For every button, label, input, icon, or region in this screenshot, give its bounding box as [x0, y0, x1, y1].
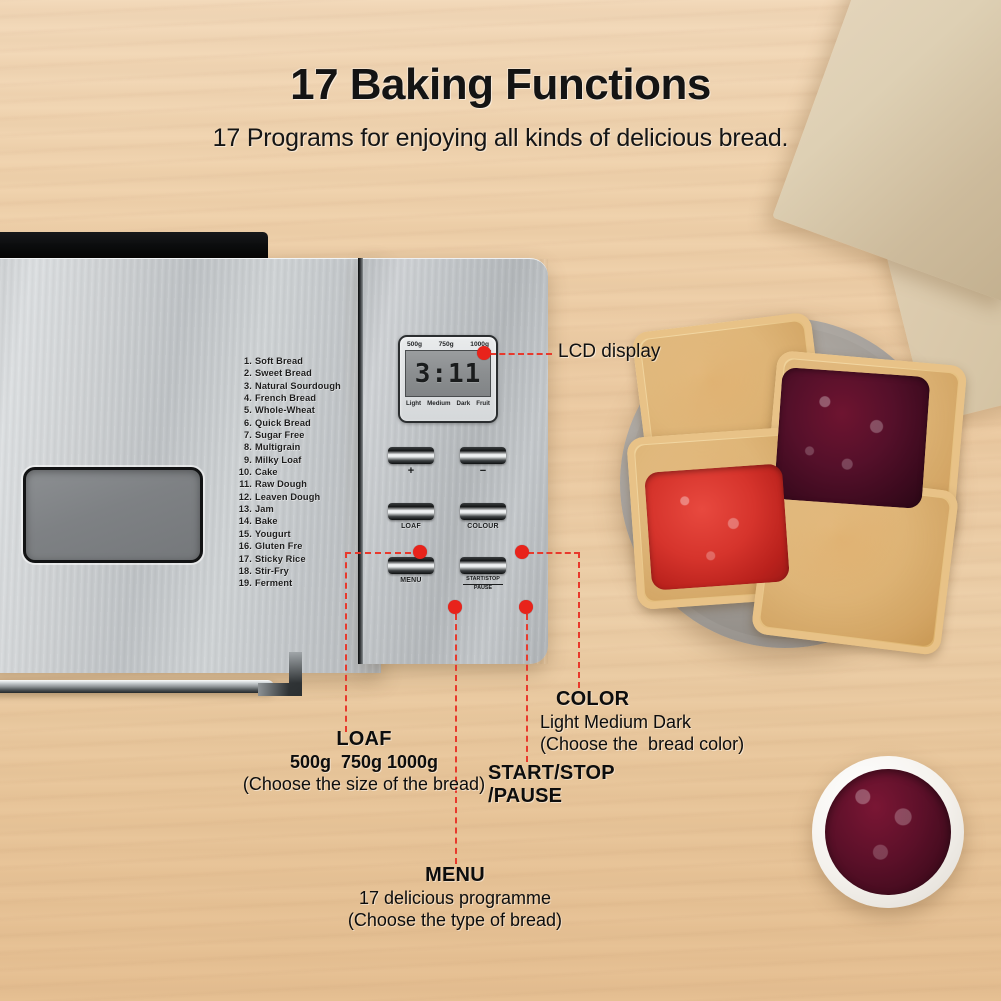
loaf-button[interactable]	[388, 503, 434, 520]
list-item: 15.Yougurt	[237, 528, 341, 540]
loaf-button-label: LOAF	[382, 523, 440, 530]
colour-callout-title: COLOR	[540, 688, 800, 711]
plus-button-label: +	[388, 465, 434, 477]
lcd-weight-500g: 500g	[407, 341, 422, 348]
colour-button[interactable]	[460, 503, 506, 520]
program-number: 6.	[237, 417, 252, 429]
program-name: Soft Bread	[255, 356, 303, 366]
lcd-mode-light: Light	[406, 400, 421, 407]
program-name: Bake	[255, 516, 278, 526]
appliance-lid	[0, 232, 268, 260]
bread-maker-appliance: 1.Soft Bread 2.Sweet Bread 3.Natural Sou…	[0, 248, 551, 678]
program-number: 15.	[237, 528, 252, 540]
program-name: Leaven Dough	[255, 492, 320, 502]
program-name: Sweet Bread	[255, 368, 312, 378]
viewing-window	[23, 467, 203, 563]
list-item: 1.Soft Bread	[237, 355, 341, 367]
list-item: 4.French Bread	[237, 392, 341, 404]
start-stop-callout-line1: START/STOP	[488, 762, 748, 785]
program-name: Sugar Free	[255, 430, 305, 440]
program-name: Quick Bread	[255, 418, 311, 428]
start-stop-pause-button[interactable]	[460, 557, 506, 574]
program-name: Ferment	[255, 578, 292, 588]
program-number: 5.	[237, 404, 252, 416]
carry-handle-bar	[0, 680, 274, 693]
loaf-leader-vertical	[345, 552, 347, 732]
berry-jam-spread	[774, 367, 931, 509]
program-name: Raw Dough	[255, 479, 307, 489]
loaf-callout-title: LOAF	[214, 728, 514, 751]
page-title: 17 Baking Functions	[0, 62, 1001, 108]
page-subtitle: 17 Programs for enjoying all kinds of de…	[0, 124, 1001, 153]
program-list: 1.Soft Bread 2.Sweet Bread 3.Natural Sou…	[237, 355, 341, 590]
program-name: French Bread	[255, 393, 316, 403]
menu-callout: MENU 17 delicious programme (Choose the …	[320, 864, 590, 931]
list-item: 3.Natural Sourdough	[237, 380, 341, 392]
program-number: 4.	[237, 392, 252, 404]
start-stop-text: START/STOP	[454, 576, 512, 583]
menu-button[interactable]	[388, 557, 434, 574]
lcd-weight-750g: 750g	[439, 341, 454, 348]
program-number: 14.	[237, 515, 252, 527]
product-infographic: 17 Baking Functions 17 Programs for enjo…	[0, 0, 1001, 1001]
menu-callout-title: MENU	[320, 864, 590, 887]
lcd-mode-dark: Dark	[456, 400, 470, 407]
minus-button-label: −	[460, 465, 506, 477]
lcd-time-readout: 3:11	[415, 361, 482, 387]
program-name: Gluten Fre	[255, 541, 303, 551]
program-number: 13.	[237, 503, 252, 515]
menu-callout-line1: 17 delicious programme	[320, 887, 590, 909]
list-item: 2.Sweet Bread	[237, 367, 341, 379]
loaf-callout-line2: (Choose the size of the bread)	[214, 773, 514, 795]
loaf-marker-dot	[413, 545, 427, 559]
minus-button[interactable]	[460, 447, 506, 464]
colour-callout-line1: Light Medium Dark	[540, 711, 800, 733]
colour-marker-dot	[515, 545, 529, 559]
loaf-callout-line1: 500g 750g 1000g	[214, 751, 514, 773]
plus-button[interactable]	[388, 447, 434, 464]
program-number: 3.	[237, 380, 252, 392]
program-name: Stir-Fry	[255, 566, 289, 576]
program-number: 2.	[237, 367, 252, 379]
colour-button-label: COLOUR	[454, 523, 512, 530]
program-name: Yougurt	[255, 529, 291, 539]
list-item: 16.Gluten Fre	[237, 540, 341, 552]
program-name: Multigrain	[255, 442, 300, 452]
lcd-display-marker-dot	[477, 346, 491, 360]
list-item: 14.Bake	[237, 515, 341, 527]
panel-seam	[358, 258, 363, 664]
program-number: 18.	[237, 565, 252, 577]
pause-text: PAUSE	[454, 585, 512, 592]
program-number: 11.	[237, 478, 252, 490]
lcd-display-callout: LCD display	[558, 341, 660, 363]
list-item: 17.Sticky Rice	[237, 553, 341, 565]
start-stop-leader-vertical	[526, 614, 528, 762]
program-number: 19.	[237, 577, 252, 589]
menu-button-label: MENU	[382, 577, 440, 584]
program-name: Milky Loaf	[255, 455, 301, 465]
carry-handle-elbow	[258, 652, 302, 696]
list-item: 11.Raw Dough	[237, 478, 341, 490]
program-name: Jam	[255, 504, 274, 514]
colour-leader-vertical	[578, 552, 580, 688]
pause-button-label: PAUSE	[454, 585, 512, 592]
list-item: 9.Milky Loaf	[237, 454, 341, 466]
strawberry-jam-spread	[644, 463, 790, 590]
jam-bowl	[812, 756, 964, 908]
program-number: 1.	[237, 355, 252, 367]
program-number: 10.	[237, 466, 252, 478]
loaf-leader-horizontal	[345, 552, 421, 554]
jam-bowl-contents	[825, 769, 951, 895]
list-item: 12.Leaven Dough	[237, 491, 341, 503]
list-item: 10.Cake	[237, 466, 341, 478]
program-number: 8.	[237, 441, 252, 453]
colour-leader-horizontal	[528, 552, 580, 554]
list-item: 5.Whole-Wheat	[237, 404, 341, 416]
start-stop-marker-dot	[519, 600, 533, 614]
colour-callout: COLOR Light Medium Dark (Choose the brea…	[540, 688, 800, 755]
list-item: 13.Jam	[237, 503, 341, 515]
program-name: Cake	[255, 467, 278, 477]
colour-callout-line2: (Choose the bread color)	[540, 733, 800, 755]
program-number: 16.	[237, 540, 252, 552]
program-number: 17.	[237, 553, 252, 565]
list-item: 7.Sugar Free	[237, 429, 341, 441]
program-name: Whole-Wheat	[255, 405, 315, 415]
start-stop-button-label: START/STOP	[454, 576, 512, 583]
list-item: 8.Multigrain	[237, 441, 341, 453]
loaf-callout: LOAF 500g 750g 1000g (Choose the size of…	[214, 728, 514, 795]
list-item: 19.Ferment	[237, 577, 341, 589]
start-stop-callout-line2: /PAUSE	[488, 785, 748, 808]
program-number: 12.	[237, 491, 252, 503]
start-stop-callout: START/STOP /PAUSE	[488, 762, 748, 808]
lcd-mode-fruit: Fruit	[476, 400, 490, 407]
lcd-crust-indicators: Light Medium Dark Fruit	[405, 397, 491, 407]
program-name: Natural Sourdough	[255, 381, 341, 391]
list-item: 18.Stir-Fry	[237, 565, 341, 577]
list-item: 6.Quick Bread	[237, 417, 341, 429]
appliance-body: 1.Soft Bread 2.Sweet Bread 3.Natural Sou…	[0, 258, 381, 673]
program-number: 7.	[237, 429, 252, 441]
menu-callout-line2: (Choose the type of bread)	[320, 909, 590, 931]
program-number: 9.	[237, 454, 252, 466]
lcd-display-leader	[490, 353, 552, 355]
menu-marker-dot	[448, 600, 462, 614]
lcd-mode-medium: Medium	[427, 400, 450, 407]
program-name: Sticky Rice	[255, 554, 306, 564]
header-block: 17 Baking Functions 17 Programs for enjo…	[0, 62, 1001, 153]
